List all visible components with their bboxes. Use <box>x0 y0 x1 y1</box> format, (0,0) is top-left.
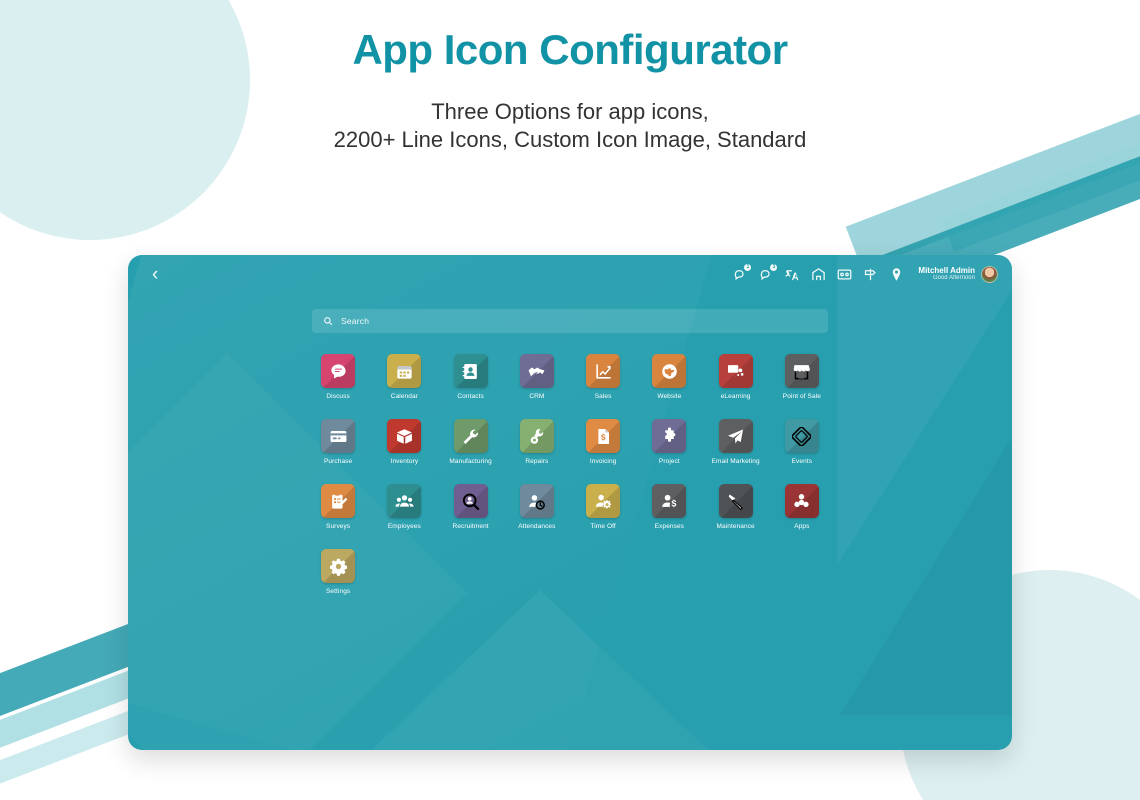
app-tile[interactable] <box>321 484 355 518</box>
app-window: ‹ 1 3 <box>128 255 1012 750</box>
apps-grid-icon[interactable] <box>837 267 852 282</box>
page-subtitle: Three Options for app icons, 2200+ Line … <box>0 98 1140 154</box>
search-input[interactable]: Search <box>312 309 828 333</box>
globe-icon <box>660 362 679 381</box>
location-pin-icon[interactable] <box>889 267 904 282</box>
app-recruitment[interactable]: Recruitment <box>438 484 504 530</box>
translate-icon[interactable] <box>785 267 800 282</box>
app-maintenance[interactable]: Maintenance <box>703 484 769 530</box>
user-greeting: Good Afternoon <box>918 275 975 282</box>
app-label: Events <box>792 458 812 465</box>
box-icon <box>395 427 414 446</box>
app-tile[interactable] <box>586 484 620 518</box>
gear-icon <box>329 557 348 576</box>
handshake-icon <box>527 362 546 381</box>
app-label: Calendar <box>391 393 418 400</box>
search-icon <box>323 316 333 326</box>
puzzle-piece-icon <box>660 427 679 446</box>
app-tile[interactable] <box>520 484 554 518</box>
person-clock-icon <box>527 492 546 511</box>
app-elearning[interactable]: eLearning <box>703 354 769 400</box>
app-label: Purchase <box>324 458 352 465</box>
app-label: Recruitment <box>453 523 489 530</box>
messages-badge: 1 <box>744 264 751 271</box>
app-point-of-sale[interactable]: Point of Sale <box>769 354 835 400</box>
app-grid: DiscussCalendarContactsCRMSalesWebsiteeL… <box>305 354 835 595</box>
app-label: Project <box>659 458 680 465</box>
app-expenses[interactable]: Expenses <box>636 484 702 530</box>
app-label: Employees <box>388 523 421 530</box>
app-tile[interactable] <box>785 484 819 518</box>
systray-icons: 1 3 <box>733 267 904 282</box>
app-purchase[interactable]: Purchase <box>305 419 371 465</box>
search-placeholder: Search <box>341 316 369 326</box>
user-name: Mitchell Admin <box>918 266 975 275</box>
app-tile[interactable] <box>520 419 554 453</box>
app-inventory[interactable]: Inventory <box>371 419 437 465</box>
app-tile[interactable] <box>454 419 488 453</box>
app-apps[interactable]: Apps <box>769 484 835 530</box>
app-crm[interactable]: CRM <box>504 354 570 400</box>
app-invoicing[interactable]: Invoicing <box>570 419 636 465</box>
app-label: Point of Sale <box>783 393 821 400</box>
header-block: App Icon Configurator Three Options for … <box>0 26 1140 154</box>
invoice-dollar-icon <box>594 427 613 446</box>
app-repairs[interactable]: Repairs <box>504 419 570 465</box>
app-label: Settings <box>326 588 350 595</box>
app-tile[interactable] <box>785 419 819 453</box>
app-tile[interactable] <box>719 484 753 518</box>
app-tile[interactable] <box>321 419 355 453</box>
app-tile[interactable] <box>652 354 686 388</box>
app-tile[interactable] <box>652 484 686 518</box>
contact-card-icon <box>461 362 480 381</box>
signpost-icon[interactable] <box>863 267 878 282</box>
app-label: Manufacturing <box>449 458 492 465</box>
app-label: Maintenance <box>716 523 754 530</box>
app-tile[interactable] <box>387 354 421 388</box>
app-contacts[interactable]: Contacts <box>438 354 504 400</box>
app-label: Discuss <box>326 393 349 400</box>
app-tile[interactable] <box>454 354 488 388</box>
window-topbar: ‹ 1 3 <box>128 255 1012 293</box>
app-events[interactable]: Events <box>769 419 835 465</box>
magnifier-person-icon <box>461 492 480 511</box>
user-text: Mitchell Admin Good Afternoon <box>918 266 975 282</box>
app-label: Inventory <box>391 458 419 465</box>
activities-badge: 3 <box>770 264 777 271</box>
app-email-marketing[interactable]: Email Marketing <box>703 419 769 465</box>
page-title: App Icon Configurator <box>0 26 1140 74</box>
app-label: Website <box>657 393 681 400</box>
app-tile[interactable] <box>719 354 753 388</box>
ticket-diamond-icon <box>792 427 811 446</box>
app-surveys[interactable]: Surveys <box>305 484 371 530</box>
app-settings[interactable]: Settings <box>305 549 371 595</box>
messages-icon[interactable]: 1 <box>733 267 748 282</box>
app-website[interactable]: Website <box>636 354 702 400</box>
app-attendances[interactable]: Attendances <box>504 484 570 530</box>
calendar-icon <box>395 362 414 381</box>
chat-bubble-icon <box>329 362 348 381</box>
app-manufacturing[interactable]: Manufacturing <box>438 419 504 465</box>
app-discuss[interactable]: Discuss <box>305 354 371 400</box>
app-label: eLearning <box>721 393 751 400</box>
hammer-icon <box>726 492 745 511</box>
cubes-icon <box>792 492 811 511</box>
app-tile[interactable] <box>321 549 355 583</box>
app-sales[interactable]: Sales <box>570 354 636 400</box>
app-employees[interactable]: Employees <box>371 484 437 530</box>
app-label: Time Off <box>590 523 615 530</box>
back-button[interactable]: ‹ <box>146 263 164 286</box>
app-label: Apps <box>794 523 809 530</box>
wrench-icon <box>461 427 480 446</box>
page-root: App Icon Configurator Three Options for … <box>0 0 1140 800</box>
clipboard-pen-icon <box>329 492 348 511</box>
app-label: Sales <box>595 393 612 400</box>
app-label: Surveys <box>326 523 350 530</box>
app-tile[interactable] <box>387 484 421 518</box>
app-label: CRM <box>529 393 544 400</box>
app-label: Email Marketing <box>712 458 760 465</box>
search-row: Search <box>128 309 1012 333</box>
page-subtitle-line1: Three Options for app icons, <box>0 98 1140 126</box>
app-tile[interactable] <box>454 484 488 518</box>
app-tile[interactable] <box>586 354 620 388</box>
page-subtitle-line2: 2200+ Line Icons, Custom Icon Image, Sta… <box>0 126 1140 154</box>
app-tile[interactable] <box>652 419 686 453</box>
app-label: Repairs <box>525 458 548 465</box>
app-calendar[interactable]: Calendar <box>371 354 437 400</box>
paper-plane-icon <box>726 427 745 446</box>
app-label: Expenses <box>655 523 684 530</box>
app-tile[interactable] <box>520 354 554 388</box>
app-label: Invoicing <box>590 458 617 465</box>
app-label: Contacts <box>457 393 483 400</box>
app-time-off[interactable]: Time Off <box>570 484 636 530</box>
presentation-icon <box>726 362 745 381</box>
app-tile[interactable] <box>586 419 620 453</box>
person-dollar-icon <box>660 492 679 511</box>
avatar[interactable] <box>981 266 998 283</box>
app-project[interactable]: Project <box>636 419 702 465</box>
user-menu[interactable]: Mitchell Admin Good Afternoon <box>918 266 998 283</box>
app-tile[interactable] <box>387 419 421 453</box>
app-tile[interactable] <box>785 354 819 388</box>
chart-up-icon <box>594 362 613 381</box>
wrench-gear-icon <box>527 427 546 446</box>
app-label: Attendances <box>518 523 555 530</box>
person-gear-icon <box>594 492 613 511</box>
company-icon[interactable] <box>811 267 826 282</box>
activities-icon[interactable]: 3 <box>759 267 774 282</box>
people-icon <box>395 492 414 511</box>
credit-card-icon <box>329 427 348 446</box>
app-tile[interactable] <box>321 354 355 388</box>
storefront-icon <box>792 362 811 381</box>
app-tile[interactable] <box>719 419 753 453</box>
